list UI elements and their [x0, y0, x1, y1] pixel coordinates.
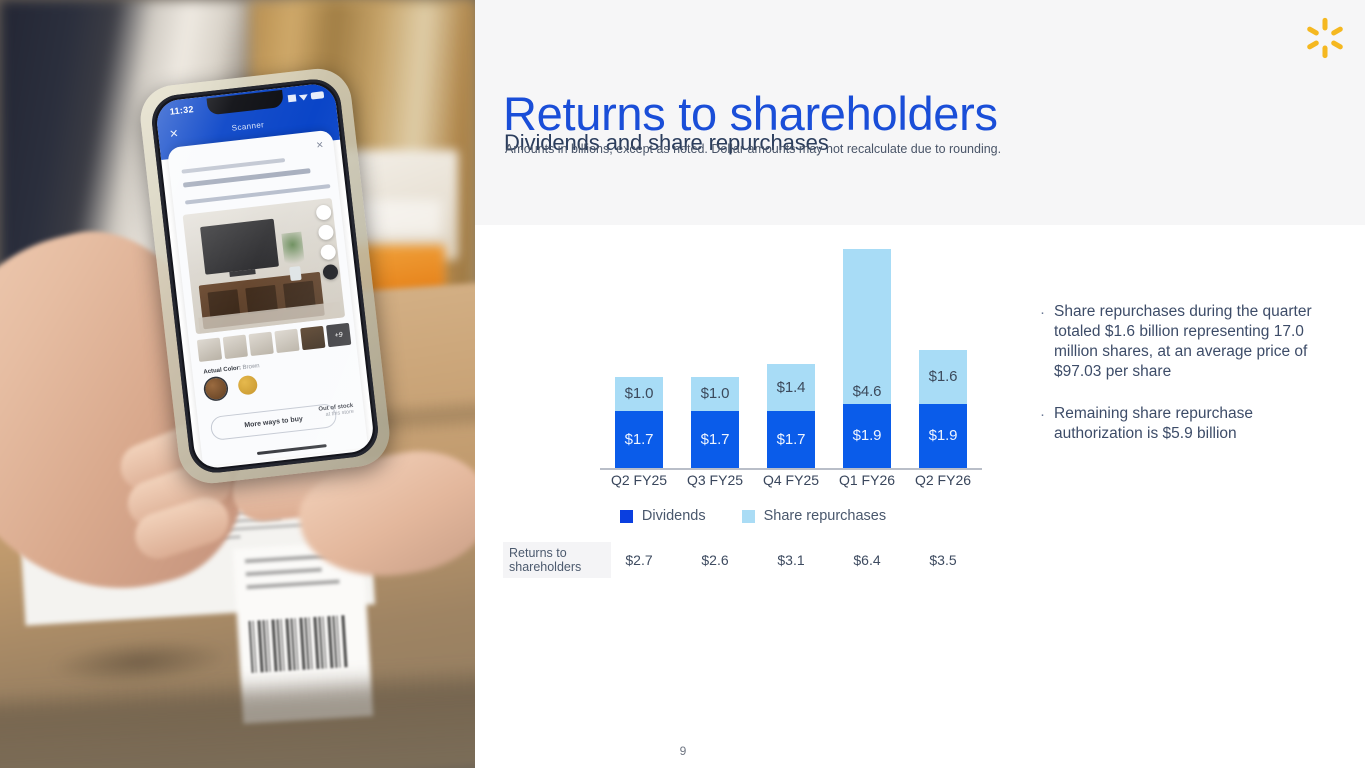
bar-segment-dividends: $1.9 [843, 404, 891, 468]
color-swatch-gold[interactable] [237, 375, 258, 396]
bullet-item: ·Remaining share repurchase authorizatio… [1040, 404, 1330, 444]
color-swatch-brown[interactable] [204, 377, 227, 400]
thumbnail-more[interactable]: +9 [326, 323, 351, 347]
bar-segment-dividends: $1.7 [615, 411, 663, 468]
bullet-text: Share repurchases during the quarter tot… [1054, 302, 1330, 382]
search-icon[interactable] [320, 244, 337, 261]
signal-icon [288, 94, 297, 102]
heart-icon[interactable] [318, 224, 335, 241]
bar-label-dividends: $1.9 [929, 427, 958, 444]
commentary-bullets: ·Share repurchases during the quarter to… [1040, 302, 1330, 466]
legend-label-dividends: Dividends [642, 508, 706, 524]
legend-swatch-dividends [620, 510, 633, 523]
bar-segment-share-repurchases: $1.0 [691, 377, 739, 411]
product-vase [289, 266, 302, 281]
product-text-line [181, 158, 285, 174]
bar-label-share-repurchases: $1.4 [777, 379, 806, 396]
page-note: Amounts in billions, except as noted. Do… [505, 141, 1001, 158]
bar-label-dividends: $1.9 [853, 427, 882, 444]
slide: 11:32 ✕ Scanner ✕ [0, 0, 1365, 768]
chart-bar: $4.6$1.9 [843, 249, 891, 468]
returns-chart: $1.0$1.7$1.0$1.7$1.4$1.7$4.6$1.9$1.6$1.9… [503, 232, 1003, 492]
thumbnail[interactable] [300, 326, 325, 350]
bar-label-dividends: $1.7 [777, 431, 806, 448]
thumbnail[interactable] [274, 329, 299, 353]
bar-label-share-repurchases: $1.0 [701, 385, 730, 402]
bar-label-share-repurchases: $1.6 [929, 368, 958, 385]
bar-segment-share-repurchases: $1.0 [615, 377, 663, 411]
bar-segment-share-repurchases: $1.4 [767, 364, 815, 411]
bar-segment-dividends: $1.9 [919, 404, 967, 468]
walmart-spark-icon [1304, 17, 1346, 59]
bar-segment-share-repurchases: $4.6 [843, 249, 891, 404]
thumbnail[interactable] [248, 332, 273, 356]
totals-value: $3.5 [898, 542, 988, 578]
photo-barcode [249, 615, 350, 673]
legend-label-share-repurchases: Share repurchases [764, 508, 887, 524]
close-icon[interactable]: ✕ [315, 140, 324, 152]
thumbnail[interactable] [223, 335, 248, 359]
bar-label-dividends: $1.7 [625, 431, 654, 448]
chart-bar: $1.0$1.7 [691, 377, 739, 468]
battery-icon [310, 91, 324, 99]
bar-label-dividends: $1.7 [701, 431, 730, 448]
thumbnail[interactable] [197, 338, 222, 362]
share-icon[interactable] [315, 204, 332, 221]
hero-photo: 11:32 ✕ Scanner ✕ [0, 0, 475, 768]
home-indicator [257, 444, 327, 455]
bar-segment-dividends: $1.7 [767, 411, 815, 468]
bar-segment-dividends: $1.7 [691, 411, 739, 468]
totals-row: Returns to shareholders $2.7$2.6$3.1$6.4… [503, 542, 1003, 578]
chart-plot-area: $1.0$1.7$1.0$1.7$1.4$1.7$4.6$1.9$1.6$1.9 [503, 232, 1003, 468]
legend-item-share-repurchases[interactable]: Share repurchases [742, 508, 887, 524]
bullet-text: Remaining share repurchase authorization… [1054, 404, 1330, 444]
bullet-item: ·Share repurchases during the quarter to… [1040, 302, 1330, 382]
product-tv [200, 219, 279, 275]
chart-bar: $1.0$1.7 [615, 377, 663, 468]
color-value-text: Brown [242, 363, 260, 371]
chart-baseline-axis [600, 468, 982, 470]
photo-smartphone: 11:32 ✕ Scanner ✕ [149, 76, 381, 475]
bar-segment-share-repurchases: $1.6 [919, 350, 967, 404]
chart-legend: Dividends Share repurchases [503, 508, 1003, 524]
bullet-marker: · [1040, 302, 1054, 382]
color-label-text: Actual Color: [203, 365, 241, 375]
product-color-label: Actual Color: Brown [203, 363, 260, 375]
bar-label-share-repurchases: $4.6 [853, 383, 882, 400]
product-sheet: ✕ [167, 129, 368, 466]
legend-swatch-share-repurchases [742, 510, 755, 523]
wifi-icon [299, 92, 309, 101]
chart-bar: $1.6$1.9 [919, 350, 967, 468]
stock-status: Out of stock at this store [318, 403, 354, 419]
chart-x-label: Q2 FY26 [898, 472, 988, 488]
play-icon[interactable] [322, 264, 339, 281]
photo-shelf-box-label [356, 200, 442, 236]
phone-screen: 11:32 ✕ Scanner ✕ [155, 82, 376, 470]
chart-bar: $1.4$1.7 [767, 364, 815, 469]
legend-item-dividends[interactable]: Dividends [620, 508, 706, 524]
bar-label-share-repurchases: $1.0 [625, 385, 654, 402]
page-number: 9 [640, 744, 726, 758]
bullet-marker: · [1040, 404, 1054, 444]
